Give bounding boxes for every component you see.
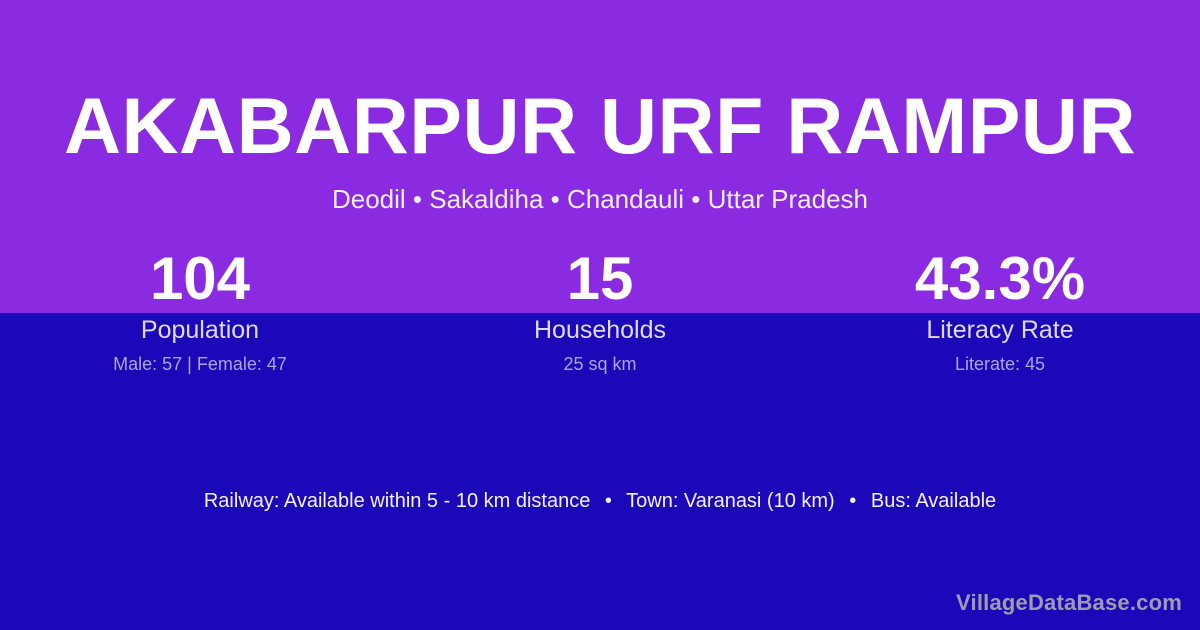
- stat-literacy-rate-value: 43.3%: [800, 248, 1200, 310]
- stat-population-breakdown: Male: 57 | Female: 47: [0, 353, 400, 375]
- amenity-town: Town: Varanasi (10 km): [626, 490, 835, 512]
- stat-population-label: Population: [0, 315, 400, 345]
- stat-literacy-literate-count: Literate: 45: [800, 353, 1200, 375]
- amenities-line: Railway: Available within 5 - 10 km dist…: [0, 487, 1200, 515]
- stat-households-value: 15: [400, 248, 800, 310]
- stat-population: 104 Population Male: 57 | Female: 47: [0, 248, 400, 375]
- stat-households: 15 Households 25 sq km: [400, 248, 800, 375]
- stat-population-value: 104: [0, 248, 400, 310]
- amenity-railway: Railway: Available within 5 - 10 km dist…: [204, 490, 590, 512]
- page-title: AKABARPUR URF RAMPUR: [0, 84, 1200, 168]
- stats-row: 104 Population Male: 57 | Female: 47 15 …: [0, 248, 1200, 375]
- amenity-separator-2: •: [840, 487, 865, 515]
- stat-literacy-rate-label: Literacy Rate: [800, 315, 1200, 345]
- village-info-card: AKABARPUR URF RAMPUR Deodil • Sakaldiha …: [0, 0, 1200, 630]
- location-breadcrumb: Deodil • Sakaldiha • Chandauli • Uttar P…: [0, 182, 1200, 216]
- site-watermark: VillageDataBase.com: [956, 590, 1182, 616]
- amenity-separator-1: •: [596, 487, 621, 515]
- stat-literacy-rate: 43.3% Literacy Rate Literate: 45: [800, 248, 1200, 375]
- amenity-bus: Bus: Available: [871, 490, 996, 512]
- stat-households-label: Households: [400, 315, 800, 345]
- stat-households-area: 25 sq km: [400, 353, 800, 375]
